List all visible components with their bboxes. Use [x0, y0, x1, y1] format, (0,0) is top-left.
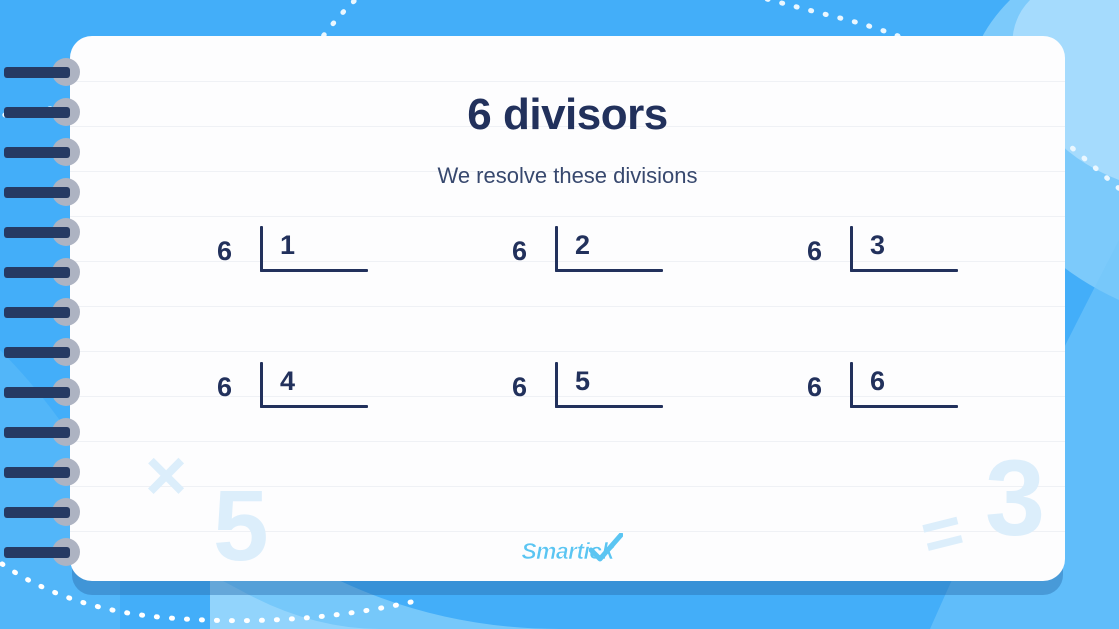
division-problem[interactable]: 6 2 [473, 226, 673, 362]
division-problems: 6 1 6 2 [178, 226, 968, 498]
ring-bar [4, 187, 70, 198]
bracket-horizontal-line [850, 269, 958, 272]
bracket-vertical-line [555, 362, 558, 408]
notebook-card: × 5 = 3 6 divisors We resolve these divi… [70, 36, 1065, 581]
problem-row: 6 1 6 2 [178, 226, 968, 362]
ring-bar [4, 307, 70, 318]
ring-bar [4, 267, 70, 278]
bracket-vertical-line [260, 362, 263, 408]
division-bracket: 3 [850, 226, 958, 276]
ring-bar [4, 547, 70, 558]
page-subtitle: We resolve these divisions [70, 163, 1065, 189]
ring-bar [4, 387, 70, 398]
check-icon [589, 533, 623, 563]
bracket-horizontal-line [555, 405, 663, 408]
bracket-horizontal-line [260, 405, 368, 408]
dividend: 6 [768, 226, 822, 265]
division-problem[interactable]: 6 5 [473, 362, 673, 498]
ring-bar [4, 507, 70, 518]
divisor: 5 [575, 368, 590, 395]
spiral-binding [0, 0, 130, 629]
page-title: 6 divisors [70, 90, 1065, 140]
division-bracket: 5 [555, 362, 663, 412]
problem-row: 6 4 6 5 [178, 362, 968, 498]
ring-bar [4, 347, 70, 358]
bracket-vertical-line [850, 226, 853, 272]
divisor: 3 [870, 232, 885, 259]
divisor: 1 [280, 232, 295, 259]
dividend: 6 [178, 362, 232, 401]
division-problem[interactable]: 6 1 [178, 226, 378, 362]
bracket-vertical-line [260, 226, 263, 272]
bracket-horizontal-line [555, 269, 663, 272]
bracket-horizontal-line [850, 405, 958, 408]
dividend: 6 [473, 226, 527, 265]
ring-bar [4, 427, 70, 438]
ring-bar [4, 227, 70, 238]
divisor: 4 [280, 368, 295, 395]
ring-bar [4, 467, 70, 478]
division-bracket: 6 [850, 362, 958, 412]
bracket-horizontal-line [260, 269, 368, 272]
ring-bar [4, 67, 70, 78]
ring-bar [4, 107, 70, 118]
bracket-vertical-line [555, 226, 558, 272]
division-problem[interactable]: 6 4 [178, 362, 378, 498]
divisor: 2 [575, 232, 590, 259]
ring-bar [4, 147, 70, 158]
dividend: 6 [768, 362, 822, 401]
bracket-vertical-line [850, 362, 853, 408]
divisor: 6 [870, 368, 885, 395]
slide-root: × 5 = 3 6 divisors We resolve these divi… [0, 0, 1119, 629]
division-bracket: 2 [555, 226, 663, 276]
division-bracket: 1 [260, 226, 368, 276]
slide-content: 6 divisors We resolve these divisions 6 … [70, 36, 1065, 581]
division-bracket: 4 [260, 362, 368, 412]
dividend: 6 [473, 362, 527, 401]
division-problem[interactable]: 6 3 [768, 226, 968, 362]
division-problem[interactable]: 6 6 [768, 362, 968, 498]
brand-logo[interactable]: Smartick [70, 538, 1065, 565]
dividend: 6 [178, 226, 232, 265]
